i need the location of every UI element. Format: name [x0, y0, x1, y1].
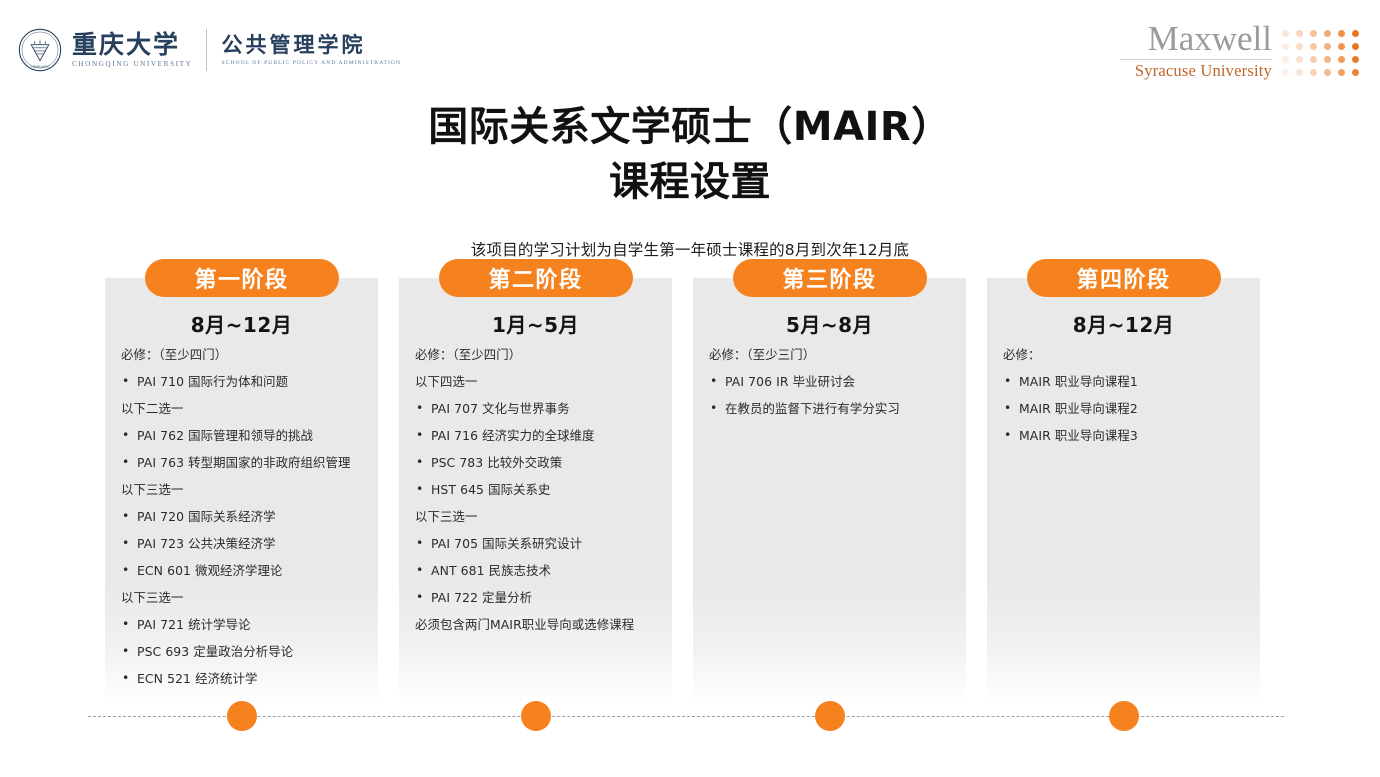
svg-text:CHONGQING: CHONGQING	[31, 65, 50, 69]
course-item: PAI 710 国际行为体和问题	[121, 375, 371, 388]
stage-badge[interactable]: 第一阶段	[145, 259, 339, 297]
stage-columns: 第一阶段8月~12月必修：（至少四门）PAI 710 国际行为体和问题以下二选一…	[105, 278, 1280, 708]
stage-badge[interactable]: 第四阶段	[1027, 259, 1221, 297]
stage-course-list: 必修：（至少四门）PAI 710 国际行为体和问题以下二选一PAI 762 国际…	[121, 348, 371, 699]
maxwell-subtitle: Syracuse University	[1135, 62, 1272, 80]
school-name-cn: 公共管理学院	[221, 34, 401, 56]
stage-column: 第一阶段8月~12月必修：（至少四门）PAI 710 国际行为体和问题以下二选一…	[105, 278, 378, 708]
cqu-name-cn: 重庆大学	[72, 32, 192, 58]
course-item: PAI 721 统计学导论	[121, 618, 371, 631]
course-group-label: 必修：（至少四门）	[121, 348, 371, 361]
maxwell-school-logo: Maxwell Syracuse University	[1120, 22, 1362, 80]
timeline-dot[interactable]	[1109, 701, 1139, 731]
cqu-name-en: CHONGQING UNIVERSITY	[72, 60, 192, 68]
stage-column: 第三阶段5月~8月必修：（至少三门）PAI 706 IR 毕业研讨会在教员的监督…	[693, 278, 966, 708]
timeline-dot[interactable]	[227, 701, 257, 731]
timeline	[88, 716, 1284, 718]
course-item: ANT 681 民族志技术	[415, 564, 665, 577]
school-name-en: SCHOOL OF PUBLIC POLICY AND ADMINISTRATI…	[221, 60, 401, 66]
course-item: 在教员的监督下进行有学分实习	[709, 402, 959, 415]
course-item: PSC 783 比较外交政策	[415, 456, 665, 469]
course-item: MAIR 职业导向课程3	[1003, 429, 1253, 442]
course-item: PAI 716 经济实力的全球维度	[415, 429, 665, 442]
stage-course-list: 必修：（至少三门）PAI 706 IR 毕业研讨会在教员的监督下进行有学分实习	[709, 348, 959, 429]
page-title-line2: 课程设置	[609, 159, 771, 205]
course-item: PAI 762 国际管理和领导的挑战	[121, 429, 371, 442]
stage-badge[interactable]: 第二阶段	[439, 259, 633, 297]
course-item: MAIR 职业导向课程2	[1003, 402, 1253, 415]
stage-period: 1月~5月	[399, 309, 672, 338]
page-title: 国际关系文学硕士（MAIR） 课程设置	[0, 100, 1380, 210]
timeline-dot[interactable]	[521, 701, 551, 731]
stage-period: 8月~12月	[105, 309, 378, 338]
cqu-seal-icon: CHONGQING	[18, 28, 62, 72]
logo-divider	[206, 29, 207, 71]
stage-period: 5月~8月	[693, 309, 966, 338]
title-block: 国际关系文学硕士（MAIR） 课程设置 该项目的学习计划为自学生第一年硕士课程的…	[0, 100, 1380, 260]
course-item: PAI 706 IR 毕业研讨会	[709, 375, 959, 388]
timeline-rule	[88, 716, 1284, 717]
stage-badge[interactable]: 第三阶段	[733, 259, 927, 297]
course-group-label: 必修：（至少四门）	[415, 348, 665, 361]
page-title-line1: 国际关系文学硕士（MAIR）	[428, 104, 951, 150]
course-item: HST 645 国际关系史	[415, 483, 665, 496]
stage-course-list: 必修：MAIR 职业导向课程1MAIR 职业导向课程2MAIR 职业导向课程3	[1003, 348, 1253, 456]
course-item: ECN 601 微观经济学理论	[121, 564, 371, 577]
course-group-label: 以下二选一	[121, 402, 371, 415]
maxwell-rule	[1120, 59, 1272, 60]
course-item: PAI 722 定量分析	[415, 591, 665, 604]
stage-panel	[987, 278, 1260, 703]
course-item: PAI 763 转型期国家的非政府组织管理	[121, 456, 371, 469]
course-item: ECN 521 经济统计学	[121, 672, 371, 685]
timeline-dot[interactable]	[815, 701, 845, 731]
course-group-label: 以下三选一	[121, 483, 371, 496]
course-group-label: 以下三选一	[415, 510, 665, 523]
page-subtitle: 该项目的学习计划为自学生第一年硕士课程的8月到次年12月底	[0, 238, 1380, 260]
maxwell-dot-grid-icon	[1278, 27, 1362, 79]
course-group-label: 以下三选一	[121, 591, 371, 604]
course-item: PAI 705 国际关系研究设计	[415, 537, 665, 550]
stage-panel	[693, 278, 966, 703]
course-group-label: 以下四选一	[415, 375, 665, 388]
course-item: PAI 720 国际关系经济学	[121, 510, 371, 523]
stage-column: 第二阶段1月~5月必修：（至少四门）以下四选一PAI 707 文化与世界事务PA…	[399, 278, 672, 708]
course-item: PAI 723 公共决策经济学	[121, 537, 371, 550]
stage-period: 8月~12月	[987, 309, 1260, 338]
stage-column: 第四阶段8月~12月必修：MAIR 职业导向课程1MAIR 职业导向课程2MAI…	[987, 278, 1260, 708]
course-group-label: 必须包含两门MAIR职业导向或选修课程	[415, 618, 665, 631]
course-item: PAI 707 文化与世界事务	[415, 402, 665, 415]
course-item: MAIR 职业导向课程1	[1003, 375, 1253, 388]
stage-course-list: 必修：（至少四门）以下四选一PAI 707 文化与世界事务PAI 716 经济实…	[415, 348, 665, 645]
course-item: PSC 693 定量政治分析导论	[121, 645, 371, 658]
course-group-label: 必修：（至少三门）	[709, 348, 959, 361]
page-header: CHONGQING 重庆大学 CHONGQING UNIVERSITY 公共管理…	[0, 0, 1380, 100]
maxwell-wordmark: Maxwell	[1148, 22, 1272, 56]
chongqing-university-logo: CHONGQING 重庆大学 CHONGQING UNIVERSITY 公共管理…	[18, 24, 401, 76]
course-group-label: 必修：	[1003, 348, 1253, 361]
